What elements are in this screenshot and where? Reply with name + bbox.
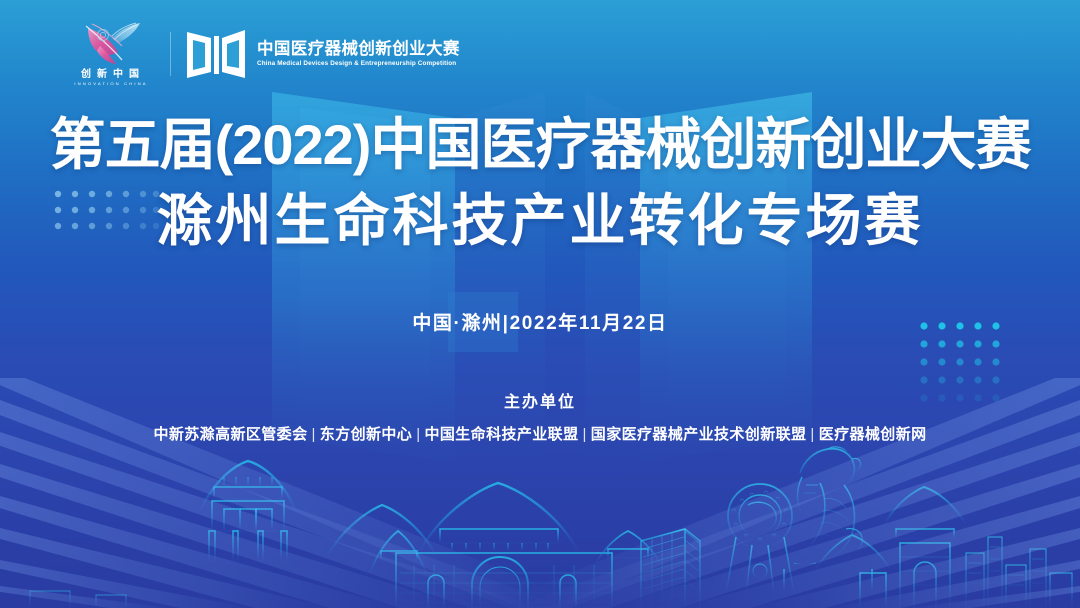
logo-divider <box>170 32 171 76</box>
poster-title-block: 第五届(2022)中国医疗器械创新创业大赛 滁州生命科技产业转化专场赛 <box>0 112 1080 254</box>
organizer-item: 中新苏滁高新区管委会 <box>153 426 307 443</box>
light-streaks-decor <box>0 378 1080 608</box>
chinese-archway-icon <box>328 483 660 608</box>
chinese-gate-tower-icon <box>370 531 426 573</box>
organizers-heading: 主办单位 <box>0 388 1080 412</box>
innovation-logo-cn: 创新中国 <box>75 69 145 80</box>
modern-tower-icon <box>641 529 700 608</box>
city-buildings-icon <box>966 537 1072 608</box>
organizers-list: 中新苏滁高新区管委会|东方创新中心|中国生命科技产业联盟|国家医疗器械产业技术创… <box>0 423 1080 444</box>
city-skyline-illustration <box>0 433 1080 608</box>
ring-sculpture-icon <box>722 484 798 601</box>
innovation-bird-icon <box>78 22 142 64</box>
organizer-separator: | <box>412 426 424 443</box>
logo-bar: 创新中国 INNOVATION CHINA 中国医疗器械创新创业大赛 China… <box>62 22 460 86</box>
poster-title-line2: 滁州生命科技产业转化专场赛 <box>0 188 1080 254</box>
event-date-location: 中国·滁州|2022年11月22日 <box>0 308 1080 335</box>
organizer-item: 东方创新中心 <box>320 426 412 443</box>
organizer-separator: | <box>579 426 591 443</box>
organizer-item: 国家医疗器械产业技术创新联盟 <box>591 426 807 443</box>
open-door-mark-icon <box>185 26 247 82</box>
poster-title-line1: 第五届(2022)中国医疗器械创新创业大赛 <box>0 112 1080 178</box>
organizer-item: 医疗器械创新网 <box>819 426 927 443</box>
organizer-separator: | <box>307 426 319 443</box>
innovation-china-logo: 创新中国 INNOVATION CHINA <box>62 22 158 86</box>
ornate-archway-icon <box>816 487 966 608</box>
event-poster: 创新中国 INNOVATION CHINA 中国医疗器械创新创业大赛 China… <box>0 0 1080 608</box>
dot-grid-left <box>52 188 160 234</box>
innovation-logo-en: INNOVATION CHINA <box>72 81 147 86</box>
competition-logo-en: China Medical Devices Design & Entrepren… <box>257 60 458 68</box>
competition-logo-cn: 中国医疗器械创新创业大赛 <box>257 40 460 58</box>
competition-logo: 中国医疗器械创新创业大赛 China Medical Devices Desig… <box>185 26 460 82</box>
background-door-motif <box>0 0 1080 608</box>
organizer-separator: | <box>806 426 818 443</box>
chinese-pavilion-icon <box>200 461 296 561</box>
merlion-statue-icon <box>780 447 876 591</box>
organizer-item: 中国生命科技产业联盟 <box>424 426 578 443</box>
